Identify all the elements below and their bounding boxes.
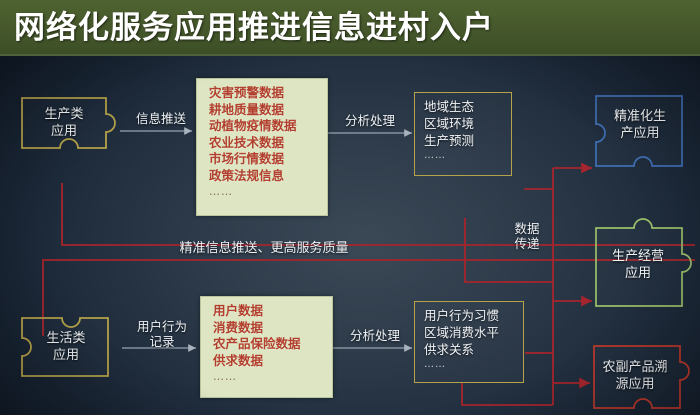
outbox-line: 用户行为习惯 [424, 307, 523, 324]
databox-production-sources: 灾害预警数据 耕地质量数据 动植物疫情数据 农业技术数据 市场行情数据 政策法规… [196, 78, 328, 216]
label-user-behavior: 用户行为 记录 [127, 319, 197, 349]
databox-line: 供求数据 [213, 353, 332, 370]
puzzle-label-production: 生产类 应用 [22, 106, 106, 140]
outbox-ellipsis: …… [424, 358, 523, 372]
databox-ellipsis: …… [213, 369, 332, 384]
databox-line: 耕地质量数据 [209, 102, 327, 119]
outbox-line: 生产预测 [424, 132, 511, 149]
databox-line: 农产品保险数据 [213, 336, 332, 353]
outbox-line: 区域消费水平 [424, 324, 523, 341]
slide-title-bar: 网络化服务应用推进信息进村入户 [0, 0, 700, 56]
outbox-ellipsis: …… [424, 149, 511, 163]
databox-living-sources: 用户数据 消费数据 农产品保险数据 供求数据 …… [200, 296, 333, 398]
databox-line: 农业技术数据 [209, 135, 327, 152]
databox-line: 消费数据 [213, 320, 332, 337]
outbox-production-analysis: 地域生态 区域环境 生产预测 …… [414, 92, 512, 176]
puzzle-label-operation-line1: 生产经营 [598, 248, 678, 265]
puzzle-label-living-line1: 生活类 [24, 330, 108, 347]
puzzle-label-living-line2: 应用 [24, 347, 108, 364]
puzzle-label-traceability-line1: 农副产品溯 [594, 359, 676, 376]
databox-line: 灾害预警数据 [209, 85, 327, 102]
databox-line: 市场行情数据 [209, 151, 327, 168]
puzzle-label-operation-line2: 应用 [598, 265, 678, 282]
label-feedback-quality: 精准信息推送、更高服务质量 [158, 241, 370, 256]
label-user-behavior-line1: 用户行为 [127, 319, 197, 334]
red-path-outbox-bottom-lower [462, 383, 553, 405]
databox-line: 用户数据 [213, 303, 332, 320]
databox-line: 动植物疫情数据 [209, 118, 327, 135]
label-push-info: 信息推送 [127, 111, 195, 126]
puzzle-label-traceability: 农副产品溯 源应用 [594, 359, 676, 393]
outbox-line: 区域环境 [424, 115, 511, 132]
puzzle-label-production-line1: 生产类 [22, 106, 106, 123]
label-analyze-top: 分析处理 [336, 113, 404, 128]
label-analyze-bottom: 分析处理 [341, 328, 409, 343]
outbox-living-analysis: 用户行为习惯 区域消费水平 供求关系 …… [414, 301, 524, 383]
databox-line: 政策法规信息 [209, 168, 327, 185]
databox-ellipsis: …… [209, 184, 327, 199]
puzzle-label-precision: 精准化生 产应用 [600, 108, 680, 142]
label-data-transfer-line1: 数据 [505, 221, 549, 236]
label-user-behavior-line2: 记录 [127, 334, 197, 349]
puzzle-label-living: 生活类 应用 [24, 330, 108, 364]
label-data-transfer: 数据 传递 [505, 221, 549, 251]
outbox-line: 供求关系 [424, 341, 523, 358]
slide-root: 网络化服务应用推进信息进村入户 [0, 0, 700, 415]
diagram-stage: 生产类 应用 生活类 应用 精准化生 产应用 生产经营 应用 农副产品溯 源应用… [0, 56, 700, 415]
puzzle-label-operation: 生产经营 应用 [598, 248, 678, 282]
puzzle-label-precision-line1: 精准化生 [600, 108, 680, 125]
puzzle-label-precision-line2: 产应用 [600, 125, 680, 142]
puzzle-label-production-line2: 应用 [22, 123, 106, 140]
page-title: 网络化服务应用推进信息进村入户 [14, 6, 494, 50]
outbox-line: 地域生态 [424, 98, 511, 115]
puzzle-label-traceability-line2: 源应用 [594, 376, 676, 393]
label-data-transfer-line2: 传递 [505, 236, 549, 251]
